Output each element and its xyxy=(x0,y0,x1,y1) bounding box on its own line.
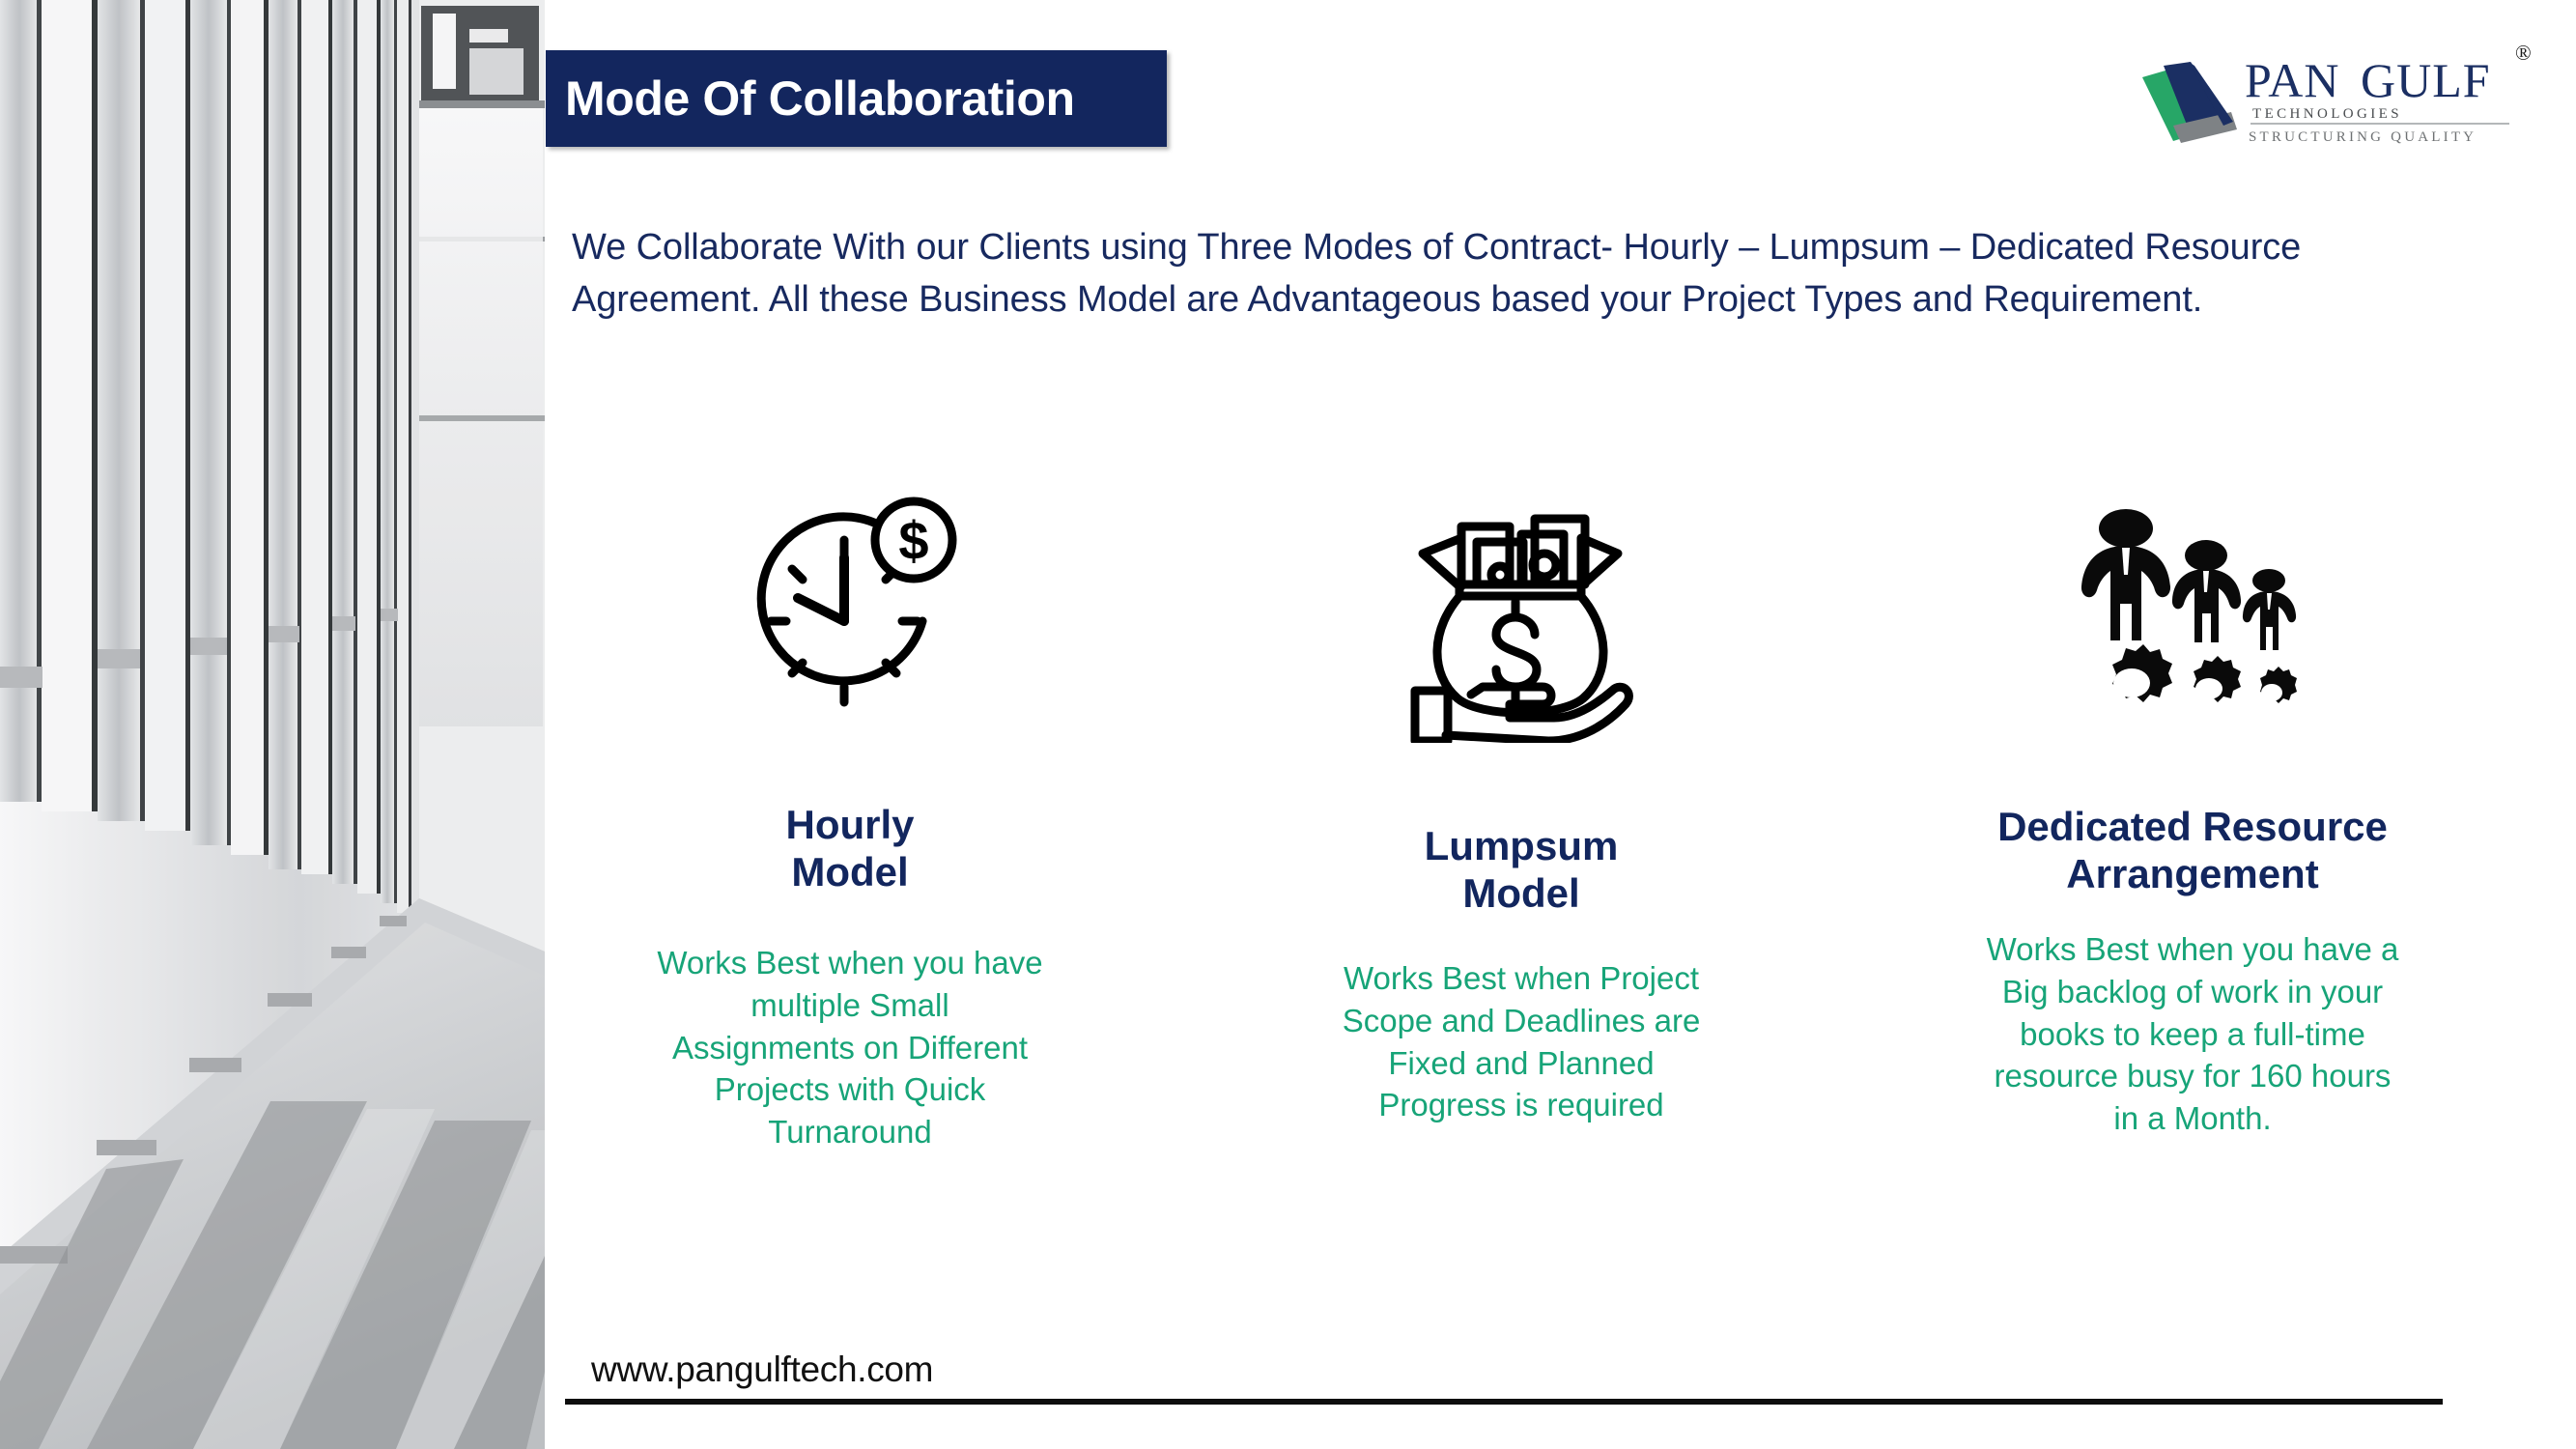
mode-heading-line-2: Model xyxy=(647,849,1053,896)
mode-card-lumpsum: Lumpsum Model Works Best when Project Sc… xyxy=(1231,435,1811,1126)
clock-dollar-icon: $ xyxy=(738,435,962,794)
svg-text:TECHNOLOGIES: TECHNOLOGIES xyxy=(2252,106,2402,122)
mode-description-dedicated: Works Best when you have a Big backlog o… xyxy=(1985,928,2400,1139)
mode-card-hourly: $ Hourly Model Works Best when you have … xyxy=(560,435,1140,1152)
money-bag-hand-icon xyxy=(1407,435,1635,802)
mode-heading-dedicated: Dedicated Resource Arrangement xyxy=(1966,804,2420,897)
mode-heading-lumpsum: Lumpsum Model xyxy=(1318,823,1724,917)
mode-heading-line-1: Lumpsum xyxy=(1318,823,1724,870)
pan-gulf-logo[interactable]: PAN GULF ® TECHNOLOGIES STRUCTURING QUAL… xyxy=(2131,37,2536,153)
svg-text:®: ® xyxy=(2515,41,2532,65)
logo-mark-icon xyxy=(2142,62,2237,143)
footer-website-url[interactable]: www.pangulftech.com xyxy=(591,1350,933,1390)
mode-description-lumpsum: Works Best when Project Scope and Deadli… xyxy=(1328,957,1714,1125)
mode-heading-hourly: Hourly Model xyxy=(647,802,1053,895)
mode-heading-line-1: Hourly xyxy=(647,802,1053,849)
svg-text:PAN: PAN xyxy=(2245,53,2339,107)
svg-text:GULF: GULF xyxy=(2361,53,2491,107)
svg-text:$: $ xyxy=(898,510,928,571)
mode-heading-line-2: Model xyxy=(1318,870,1724,918)
mode-heading-line-1: Dedicated Resource xyxy=(1966,804,2420,851)
footer-divider xyxy=(565,1399,2443,1405)
page-title: Mode Of Collaboration xyxy=(565,74,1075,123)
team-gears-icon xyxy=(2072,435,2313,792)
intro-paragraph: We Collaborate With our Clients using Th… xyxy=(572,222,2455,327)
slide-canvas: Mode Of Collaboration PAN GULF ® TECHNOL… xyxy=(0,0,2576,1449)
svg-text:STRUCTURING QUALITY: STRUCTURING QUALITY xyxy=(2249,129,2477,145)
mode-card-dedicated: Dedicated Resource Arrangement Works Bes… xyxy=(1903,435,2482,1139)
collaboration-modes: $ Hourly Model Works Best when you have … xyxy=(560,435,2482,1207)
mode-description-hourly: Works Best when you have multiple Small … xyxy=(657,942,1043,1152)
slide-title-banner: Mode Of Collaboration xyxy=(546,50,1167,147)
background-photo xyxy=(0,0,545,1449)
mode-heading-line-2: Arrangement xyxy=(1966,851,2420,898)
